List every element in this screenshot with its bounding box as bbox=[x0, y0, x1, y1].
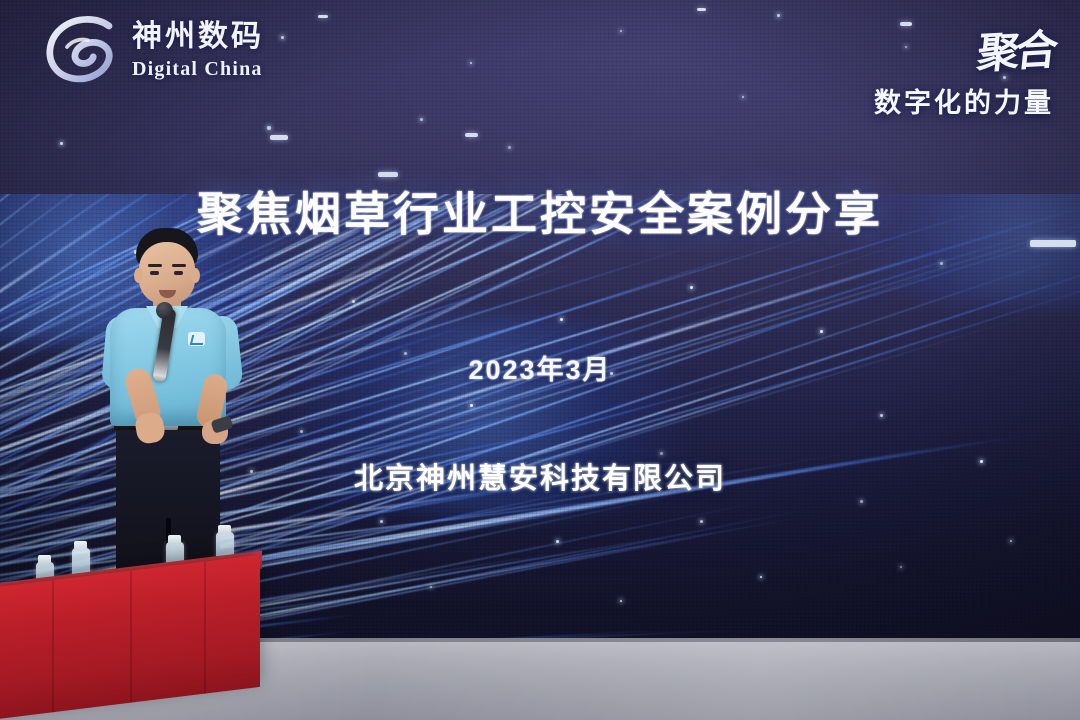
light-particle bbox=[940, 262, 943, 265]
light-particle bbox=[820, 330, 823, 333]
light-particle bbox=[404, 352, 407, 355]
light-particle bbox=[520, 470, 523, 473]
light-dash bbox=[318, 15, 328, 18]
light-particle bbox=[690, 286, 693, 289]
light-particle bbox=[880, 414, 883, 417]
light-particle bbox=[325, 203, 327, 205]
light-dash bbox=[270, 135, 288, 140]
brand-name-cn: 神州数码 bbox=[132, 22, 264, 52]
light-particle bbox=[60, 142, 63, 145]
brand-logo: 神州数码 Digital China bbox=[44, 14, 264, 86]
speaker-eyebrow-right bbox=[172, 264, 186, 267]
bottle-cap bbox=[74, 541, 87, 550]
speaker-eye-right bbox=[174, 271, 183, 275]
stage-photo-scene: 神州数码 Digital China 聚合 数字化的力量 聚焦烟草行业工控安全案… bbox=[0, 0, 1080, 720]
light-particle bbox=[980, 460, 983, 463]
light-particle bbox=[620, 600, 622, 602]
light-particle bbox=[777, 14, 780, 17]
light-particle bbox=[560, 318, 563, 321]
light-particle bbox=[1003, 76, 1006, 79]
light-dash bbox=[378, 172, 398, 177]
bottle-cap bbox=[168, 535, 181, 544]
light-particle bbox=[352, 300, 355, 303]
speaker-eyebrow-left bbox=[148, 264, 162, 267]
light-particle bbox=[742, 96, 744, 98]
light-particle bbox=[420, 118, 423, 121]
light-particle bbox=[281, 36, 284, 39]
light-dash bbox=[900, 22, 912, 26]
light-particle bbox=[620, 30, 622, 32]
light-particle bbox=[905, 46, 907, 48]
speaker-shirt-logo bbox=[188, 332, 205, 346]
bottle-cap bbox=[218, 525, 231, 534]
slogan-calligraphy: 聚合 bbox=[974, 16, 1057, 81]
light-particle bbox=[470, 404, 473, 407]
light-particle bbox=[380, 520, 383, 523]
brand-name-en: Digital China bbox=[132, 59, 264, 79]
light-particle bbox=[430, 586, 432, 588]
light-particle bbox=[900, 566, 902, 568]
light-particle bbox=[300, 430, 303, 433]
light-dash bbox=[697, 8, 706, 11]
speaker-eye-left bbox=[150, 271, 159, 275]
speaker-ear-right bbox=[191, 268, 200, 283]
light-particle bbox=[267, 126, 271, 130]
slogan-subtitle: 数字化的力量 bbox=[874, 81, 1054, 120]
light-particle bbox=[556, 540, 559, 543]
light-particle bbox=[470, 62, 472, 64]
light-particle bbox=[700, 520, 703, 523]
light-dash bbox=[1030, 240, 1076, 247]
speaker-ear-left bbox=[134, 268, 143, 283]
event-slogan: 聚合 数字化的力量 bbox=[874, 18, 1054, 120]
light-dash bbox=[465, 133, 478, 137]
light-particle bbox=[760, 576, 762, 578]
light-particle bbox=[1010, 540, 1012, 542]
light-particle bbox=[610, 372, 613, 375]
digital-china-swirl-icon bbox=[44, 14, 120, 86]
light-particle bbox=[860, 500, 863, 503]
light-particle bbox=[660, 452, 663, 455]
bottle-cap bbox=[38, 555, 51, 564]
light-particle bbox=[508, 146, 511, 149]
